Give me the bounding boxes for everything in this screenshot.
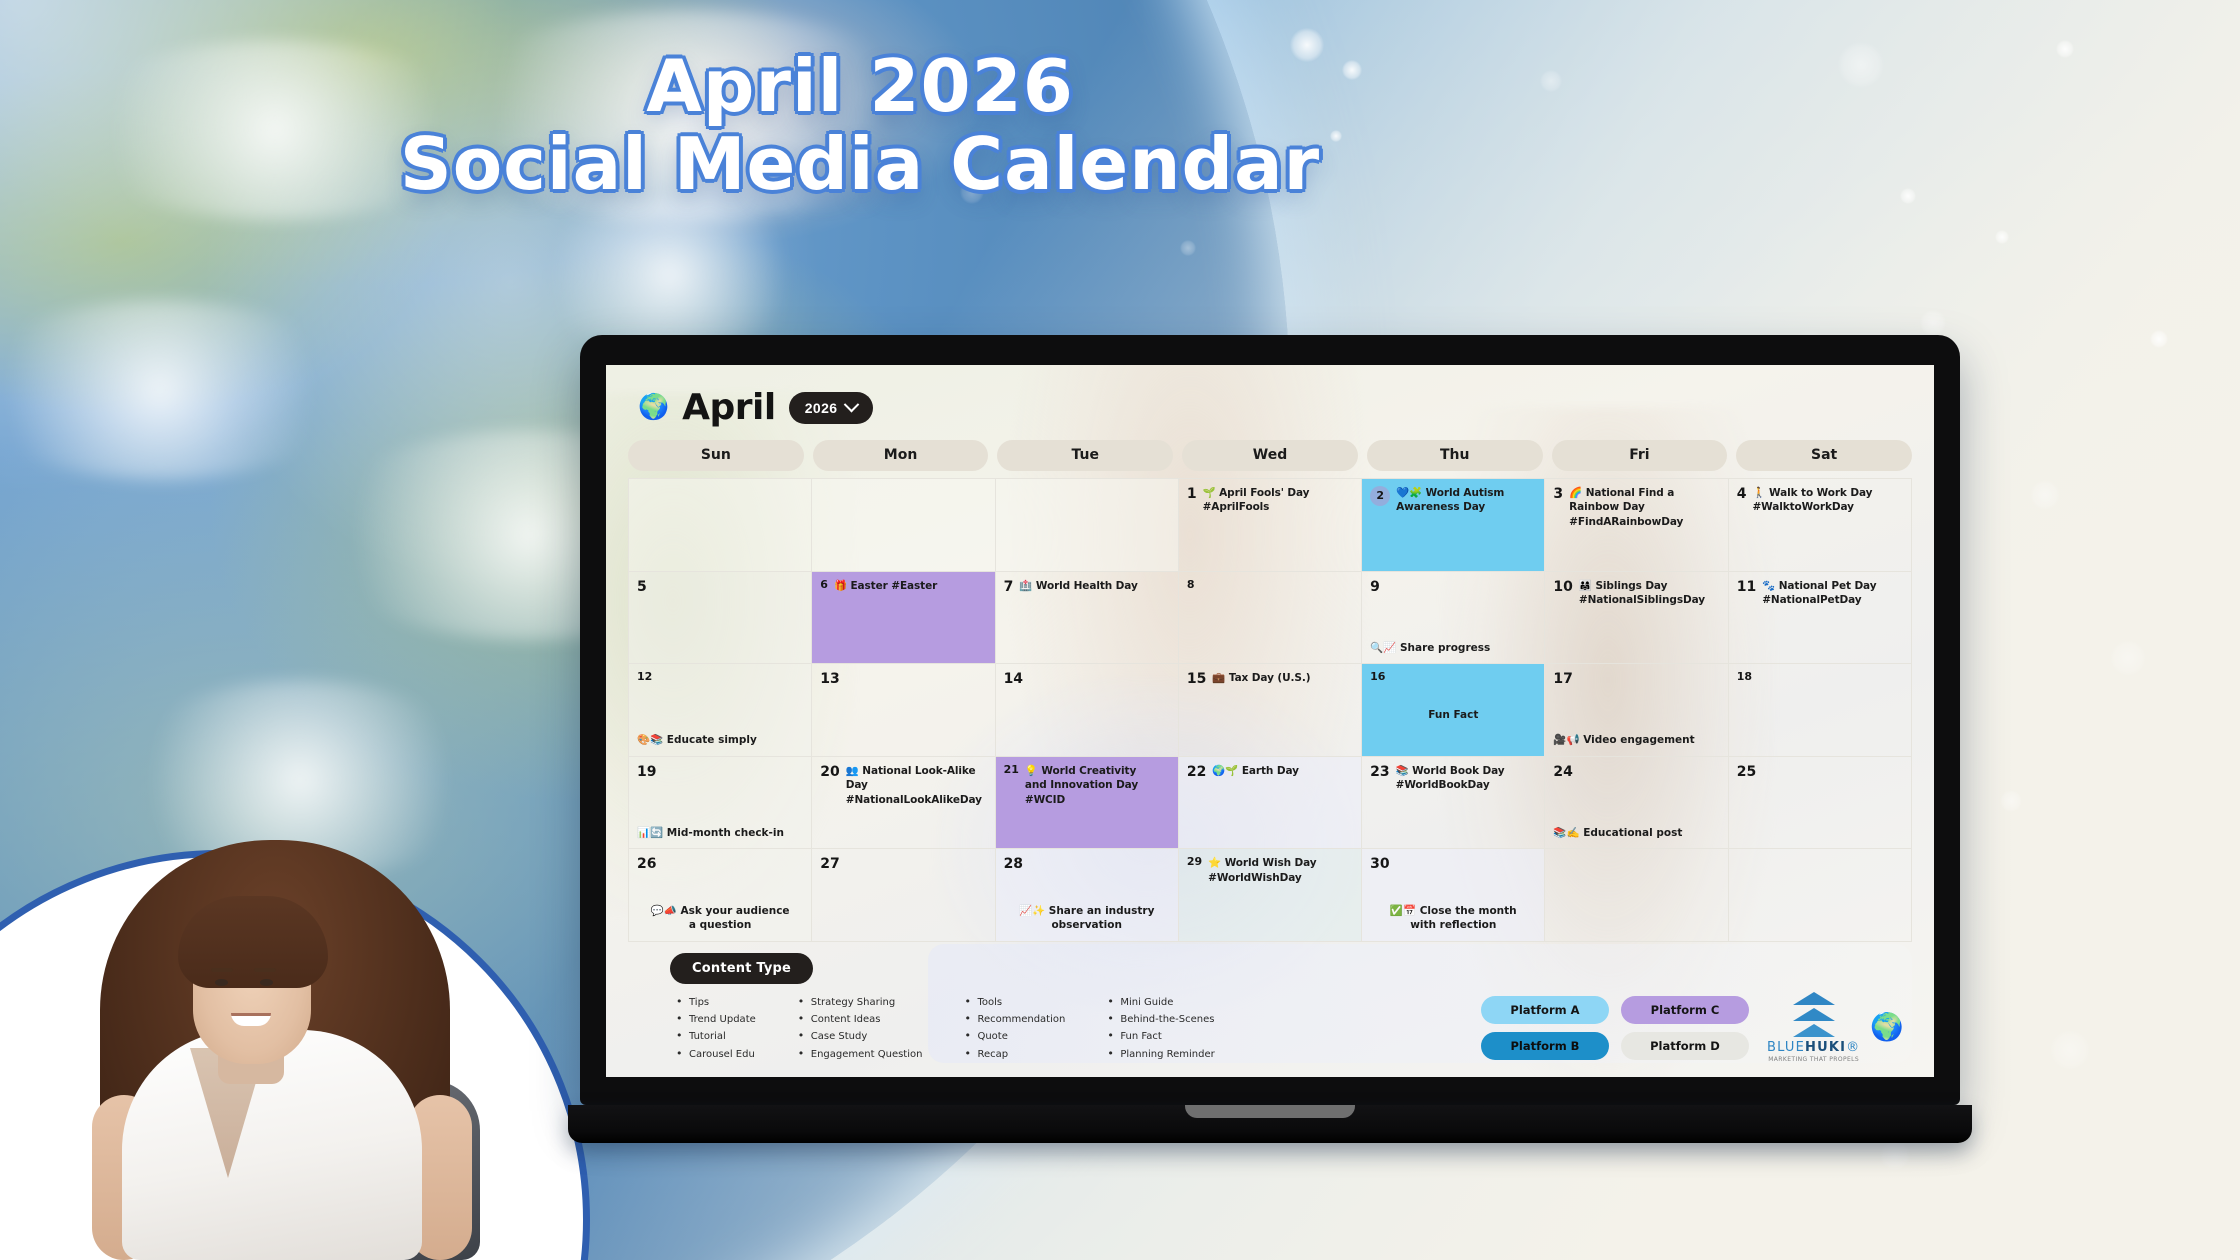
calendar-day-24[interactable]: 24📚✍️ Educational post: [1545, 757, 1728, 850]
chevron-icon: [1793, 1024, 1835, 1037]
day-number: 21: [1004, 764, 1019, 777]
day-number: 5: [637, 579, 647, 595]
day-note: 💬📣 Ask your audiencea question: [637, 904, 803, 936]
calendar-day-6[interactable]: 6🎁 Easter #Easter: [812, 572, 995, 665]
calendar-day-2[interactable]: 2💙🧩 World AutismAwareness Day: [1362, 479, 1545, 572]
weekday-header-thu: Thu: [1367, 440, 1543, 471]
chevron-icon: [1793, 992, 1835, 1005]
day-number: 6: [820, 579, 828, 592]
platform-badge-c[interactable]: Platform C: [1621, 996, 1749, 1024]
calendar-day-5[interactable]: 5: [629, 572, 812, 665]
legend-item: Trend Update: [676, 1011, 756, 1028]
weekday-header-row: SunMonTueWedThuFriSat: [628, 440, 1912, 471]
bokeh-dot: [1838, 42, 1884, 88]
calendar-day-empty: [1545, 849, 1728, 942]
calendar-day-8[interactable]: 8: [1179, 572, 1362, 665]
day-event: 📚 World Book Day#WorldBookDay: [1396, 764, 1505, 793]
legend-item: Strategy Sharing: [798, 994, 923, 1011]
title-line-2: Social Media Calendar: [0, 126, 1720, 204]
calendar-day-27[interactable]: 27: [812, 849, 995, 942]
bokeh-dot: [1995, 230, 2009, 244]
calendar-day-11[interactable]: 11🐾 National Pet Day#NationalPetDay: [1729, 572, 1912, 665]
day-number: 26: [637, 856, 656, 872]
calendar-grid: 1🌱 April Fools' Day#AprilFools2💙🧩 World …: [628, 478, 1912, 942]
day-number: 24: [1553, 764, 1572, 780]
laptop-mockup: 🌍 April 2026 SunMonTueWedThuFriSat 1🌱 Ap…: [580, 335, 1960, 1143]
bokeh-dot: [1920, 310, 1946, 336]
calendar-day-empty: [629, 479, 812, 572]
calendar-day-4[interactable]: 4🚶 Walk to Work Day#WalktoWorkDay: [1729, 479, 1912, 572]
day-note: 📚✍️ Educational post: [1553, 826, 1719, 844]
weekday-header-fri: Fri: [1552, 440, 1728, 471]
day-number: 27: [820, 856, 839, 872]
weekday-header-mon: Mon: [813, 440, 989, 471]
legend-item: Fun Fact: [1107, 1028, 1214, 1045]
chevron-down-icon: [844, 397, 860, 413]
calendar-day-7[interactable]: 7🏥 World Health Day: [996, 572, 1179, 665]
legend-item: Planning Reminder: [1107, 1046, 1214, 1063]
day-number: 2: [1370, 486, 1390, 506]
calendar-day-23[interactable]: 23📚 World Book Day#WorldBookDay: [1362, 757, 1545, 850]
legend-item: Behind-the-Scenes: [1107, 1011, 1214, 1028]
bokeh-dot: [2056, 40, 2074, 58]
bokeh-dot: [1180, 240, 1196, 256]
laptop-screen: 🌍 April 2026 SunMonTueWedThuFriSat 1🌱 Ap…: [606, 365, 1934, 1077]
bokeh-dot: [2150, 330, 2168, 348]
day-number: 25: [1737, 764, 1756, 780]
brand-name-part2: HUKI: [1805, 1040, 1846, 1055]
calendar-footer: Content Type TipsTrend UpdateTutorialCar…: [628, 942, 1912, 1063]
calendar-day-14[interactable]: 14: [996, 664, 1179, 757]
eye-right: [260, 979, 273, 986]
presenter-portrait: [70, 790, 490, 1260]
day-note: 🔍📈 Share progress: [1370, 641, 1536, 659]
trackpad-notch: [1185, 1105, 1355, 1118]
laptop-base: [568, 1105, 1972, 1143]
bokeh-dot: [1880, 1140, 1910, 1170]
hair-front: [178, 896, 328, 988]
calendar-day-empty: [812, 479, 995, 572]
bokeh-dot: [2110, 640, 2146, 676]
day-event: 🌍🌱 Earth Day: [1212, 764, 1299, 778]
weekday-header-wed: Wed: [1182, 440, 1358, 471]
day-number: 8: [1187, 579, 1195, 592]
brand-globe-icon: 🌍: [1870, 1014, 1904, 1041]
event-emoji-icon: 💡: [1025, 765, 1038, 777]
legend-item: Recommendation: [964, 1011, 1065, 1028]
bokeh-dot: [2030, 480, 2060, 510]
eyebrow-right: [254, 968, 276, 972]
calendar-day-25[interactable]: 25: [1729, 757, 1912, 850]
calendar-day-21[interactable]: 21💡 World Creativityand Innovation Day#W…: [996, 757, 1179, 850]
day-number: 30: [1370, 856, 1389, 872]
brand-registered: ®: [1846, 1040, 1860, 1055]
laptop-lid: 🌍 April 2026 SunMonTueWedThuFriSat 1🌱 Ap…: [580, 335, 1960, 1105]
event-emoji-icon: 🌍🌱: [1212, 765, 1238, 777]
calendar-day-15[interactable]: 15💼 Tax Day (U.S.): [1179, 664, 1362, 757]
legend-item: Quote: [964, 1028, 1065, 1045]
event-emoji-icon: 🎁: [834, 580, 847, 592]
day-event: 👨‍👩‍👧 Siblings Day#NationalSiblingsDay: [1579, 579, 1705, 608]
weekday-header-sun: Sun: [628, 440, 804, 471]
bokeh-dot: [2000, 790, 2022, 812]
calendar-day-empty: [996, 479, 1179, 572]
day-number: 11: [1737, 579, 1756, 595]
chevron-icon: [1793, 1008, 1835, 1021]
day-number: 3: [1553, 486, 1563, 502]
calendar-day-9[interactable]: 9🔍📈 Share progress: [1362, 572, 1545, 665]
day-number: 18: [1737, 671, 1752, 684]
day-event: 🎁 Easter #Easter: [834, 579, 937, 593]
day-event: 💙🧩 World AutismAwareness Day: [1396, 486, 1504, 515]
day-note: 📈✨ Share an industryobservation: [1004, 904, 1170, 936]
day-note: ✅📅 Close the monthwith reflection: [1370, 904, 1536, 936]
calendar-day-20[interactable]: 20👥 National Look-Alike Day#NationalLook…: [812, 757, 995, 850]
day-number: 9: [1370, 579, 1380, 595]
legend-column-1: TipsTrend UpdateTutorialCarousel Edu: [676, 994, 756, 1063]
bokeh-dot: [1900, 188, 1916, 204]
day-number: 17: [1553, 671, 1572, 687]
day-number: 19: [637, 764, 656, 780]
day-note: Fun Fact: [1370, 708, 1536, 726]
brand-logo: BLUEHUKI® MARKETING THAT PROPELS 🌍: [1767, 992, 1912, 1063]
day-event: 💼 Tax Day (U.S.): [1212, 671, 1310, 685]
calendar-day-3[interactable]: 3🌈 National Find aRainbow Day#FindARainb…: [1545, 479, 1728, 572]
poster-title: April 2026 Social Media Calendar: [0, 48, 1720, 204]
earth-globe-icon: 🌍: [638, 395, 669, 420]
title-line-1: April 2026: [0, 48, 1720, 126]
eye-left: [215, 979, 228, 986]
bokeh-dot: [2050, 1030, 2090, 1070]
day-event: 🌱 April Fools' Day#AprilFools: [1203, 486, 1310, 515]
calendar-day-13[interactable]: 13: [812, 664, 995, 757]
bluehuki-logo: BLUEHUKI® MARKETING THAT PROPELS: [1767, 992, 1860, 1063]
legend-item: Carousel Edu: [676, 1046, 756, 1063]
day-number: 16: [1370, 671, 1385, 684]
legend-item: Mini Guide: [1107, 994, 1214, 1011]
calendar-day-26[interactable]: 26💬📣 Ask your audiencea question: [629, 849, 812, 942]
brand-name-part1: BLUE: [1767, 1040, 1805, 1055]
legend-item: Case Study: [798, 1028, 923, 1045]
day-number: 23: [1370, 764, 1389, 780]
calendar-day-1[interactable]: 1🌱 April Fools' Day#AprilFools: [1179, 479, 1362, 572]
calendar-day-19[interactable]: 19📊🔄 Mid-month check-in: [629, 757, 812, 850]
calendar-day-10[interactable]: 10👨‍👩‍👧 Siblings Day#NationalSiblingsDay: [1545, 572, 1728, 665]
calendar-day-12[interactable]: 12🎨📚 Educate simply: [629, 664, 812, 757]
platform-badge-b[interactable]: Platform B: [1481, 1032, 1609, 1060]
day-number: 29: [1187, 856, 1202, 869]
brand-tagline: MARKETING THAT PROPELS: [1768, 1056, 1859, 1063]
year-value: 2026: [805, 400, 838, 416]
day-event: 💡 World Creativityand Innovation Day#WCI…: [1025, 764, 1138, 807]
day-number: 20: [820, 764, 839, 780]
day-number: 4: [1737, 486, 1747, 502]
calendar-header: 🌍 April 2026: [628, 385, 1912, 440]
calendar-day-30[interactable]: 30✅📅 Close the monthwith reflection: [1362, 849, 1545, 942]
legend-item: Engagement Question: [798, 1046, 923, 1063]
calendar-day-16[interactable]: 16Fun Fact: [1362, 664, 1545, 757]
platform-badge-a[interactable]: Platform A: [1481, 996, 1609, 1024]
day-event: 🐾 National Pet Day#NationalPetDay: [1762, 579, 1876, 608]
brand-wordmark: BLUEHUKI®: [1767, 1040, 1860, 1055]
day-event: 👥 National Look-Alike Day#NationalLookAl…: [846, 764, 987, 807]
day-number: 12: [637, 671, 652, 684]
calendar-day-17[interactable]: 17🎥📢 Video engagement: [1545, 664, 1728, 757]
weekday-header-sat: Sat: [1736, 440, 1912, 471]
calendar-day-18[interactable]: 18: [1729, 664, 1912, 757]
weekday-header-tue: Tue: [997, 440, 1173, 471]
chevron-stack-icon: [1793, 992, 1835, 1037]
event-emoji-icon: 🐾: [1762, 580, 1775, 592]
day-event: 🏥 World Health Day: [1019, 579, 1137, 593]
legend-column-4: Mini GuideBehind-the-ScenesFun FactPlann…: [1107, 994, 1214, 1063]
eyebrow-left: [211, 968, 233, 972]
day-number: 1: [1187, 486, 1197, 502]
day-number: 28: [1004, 856, 1023, 872]
event-emoji-icon: 💼: [1212, 672, 1225, 684]
day-note: 🎨📚 Educate simply: [637, 733, 803, 751]
day-number: 14: [1004, 671, 1023, 687]
day-number: 10: [1553, 579, 1572, 595]
content-type-pill: Content Type: [670, 953, 813, 984]
day-number: 15: [1187, 671, 1206, 687]
month-label: April: [682, 387, 776, 428]
day-event: ⭐ World Wish Day#WorldWishDay: [1208, 856, 1316, 885]
legend-item: Tutorial: [676, 1028, 756, 1045]
calendar-day-empty: [1729, 849, 1912, 942]
event-emoji-icon: ⭐: [1208, 857, 1221, 869]
event-emoji-icon: 💙🧩: [1396, 487, 1422, 499]
event-emoji-icon: 🌱: [1203, 487, 1216, 499]
day-number: 7: [1004, 579, 1014, 595]
day-event: 🚶 Walk to Work Day#WalktoWorkDay: [1752, 486, 1872, 515]
calendar-day-22[interactable]: 22🌍🌱 Earth Day: [1179, 757, 1362, 850]
day-note: 🎥📢 Video engagement: [1553, 733, 1719, 751]
day-note: 📊🔄 Mid-month check-in: [637, 826, 803, 844]
year-selector[interactable]: 2026: [789, 392, 874, 424]
legend-item: Tips: [676, 994, 756, 1011]
platform-badge-d[interactable]: Platform D: [1621, 1032, 1749, 1060]
event-emoji-icon: 👨‍👩‍👧: [1579, 580, 1592, 592]
day-event: 🌈 National Find aRainbow Day#FindARainbo…: [1569, 486, 1683, 529]
day-number: 22: [1187, 764, 1206, 780]
day-number: 13: [820, 671, 839, 687]
event-emoji-icon: 🏥: [1019, 580, 1032, 592]
legend-item: Recap: [964, 1046, 1065, 1063]
calendar-day-29[interactable]: 29⭐ World Wish Day#WorldWishDay: [1179, 849, 1362, 942]
content-type-legend: TipsTrend UpdateTutorialCarousel EduStra…: [628, 992, 1215, 1063]
event-emoji-icon: 🚶: [1752, 487, 1765, 499]
legend-item: Content Ideas: [798, 1011, 923, 1028]
event-emoji-icon: 🌈: [1569, 487, 1582, 499]
calendar-day-28[interactable]: 28📈✨ Share an industryobservation: [996, 849, 1179, 942]
event-emoji-icon: 👥: [846, 765, 859, 777]
legend-item: Tools: [964, 994, 1065, 1011]
event-emoji-icon: 📚: [1396, 765, 1409, 777]
platform-legend: Platform APlatform CPlatform BPlatform D: [1481, 996, 1749, 1060]
legend-column-3: ToolsRecommendationQuoteRecap: [964, 994, 1065, 1063]
calendar-app: 🌍 April 2026 SunMonTueWedThuFriSat 1🌱 Ap…: [606, 365, 1934, 1077]
legend-column-2: Strategy SharingContent IdeasCase StudyE…: [798, 994, 923, 1063]
